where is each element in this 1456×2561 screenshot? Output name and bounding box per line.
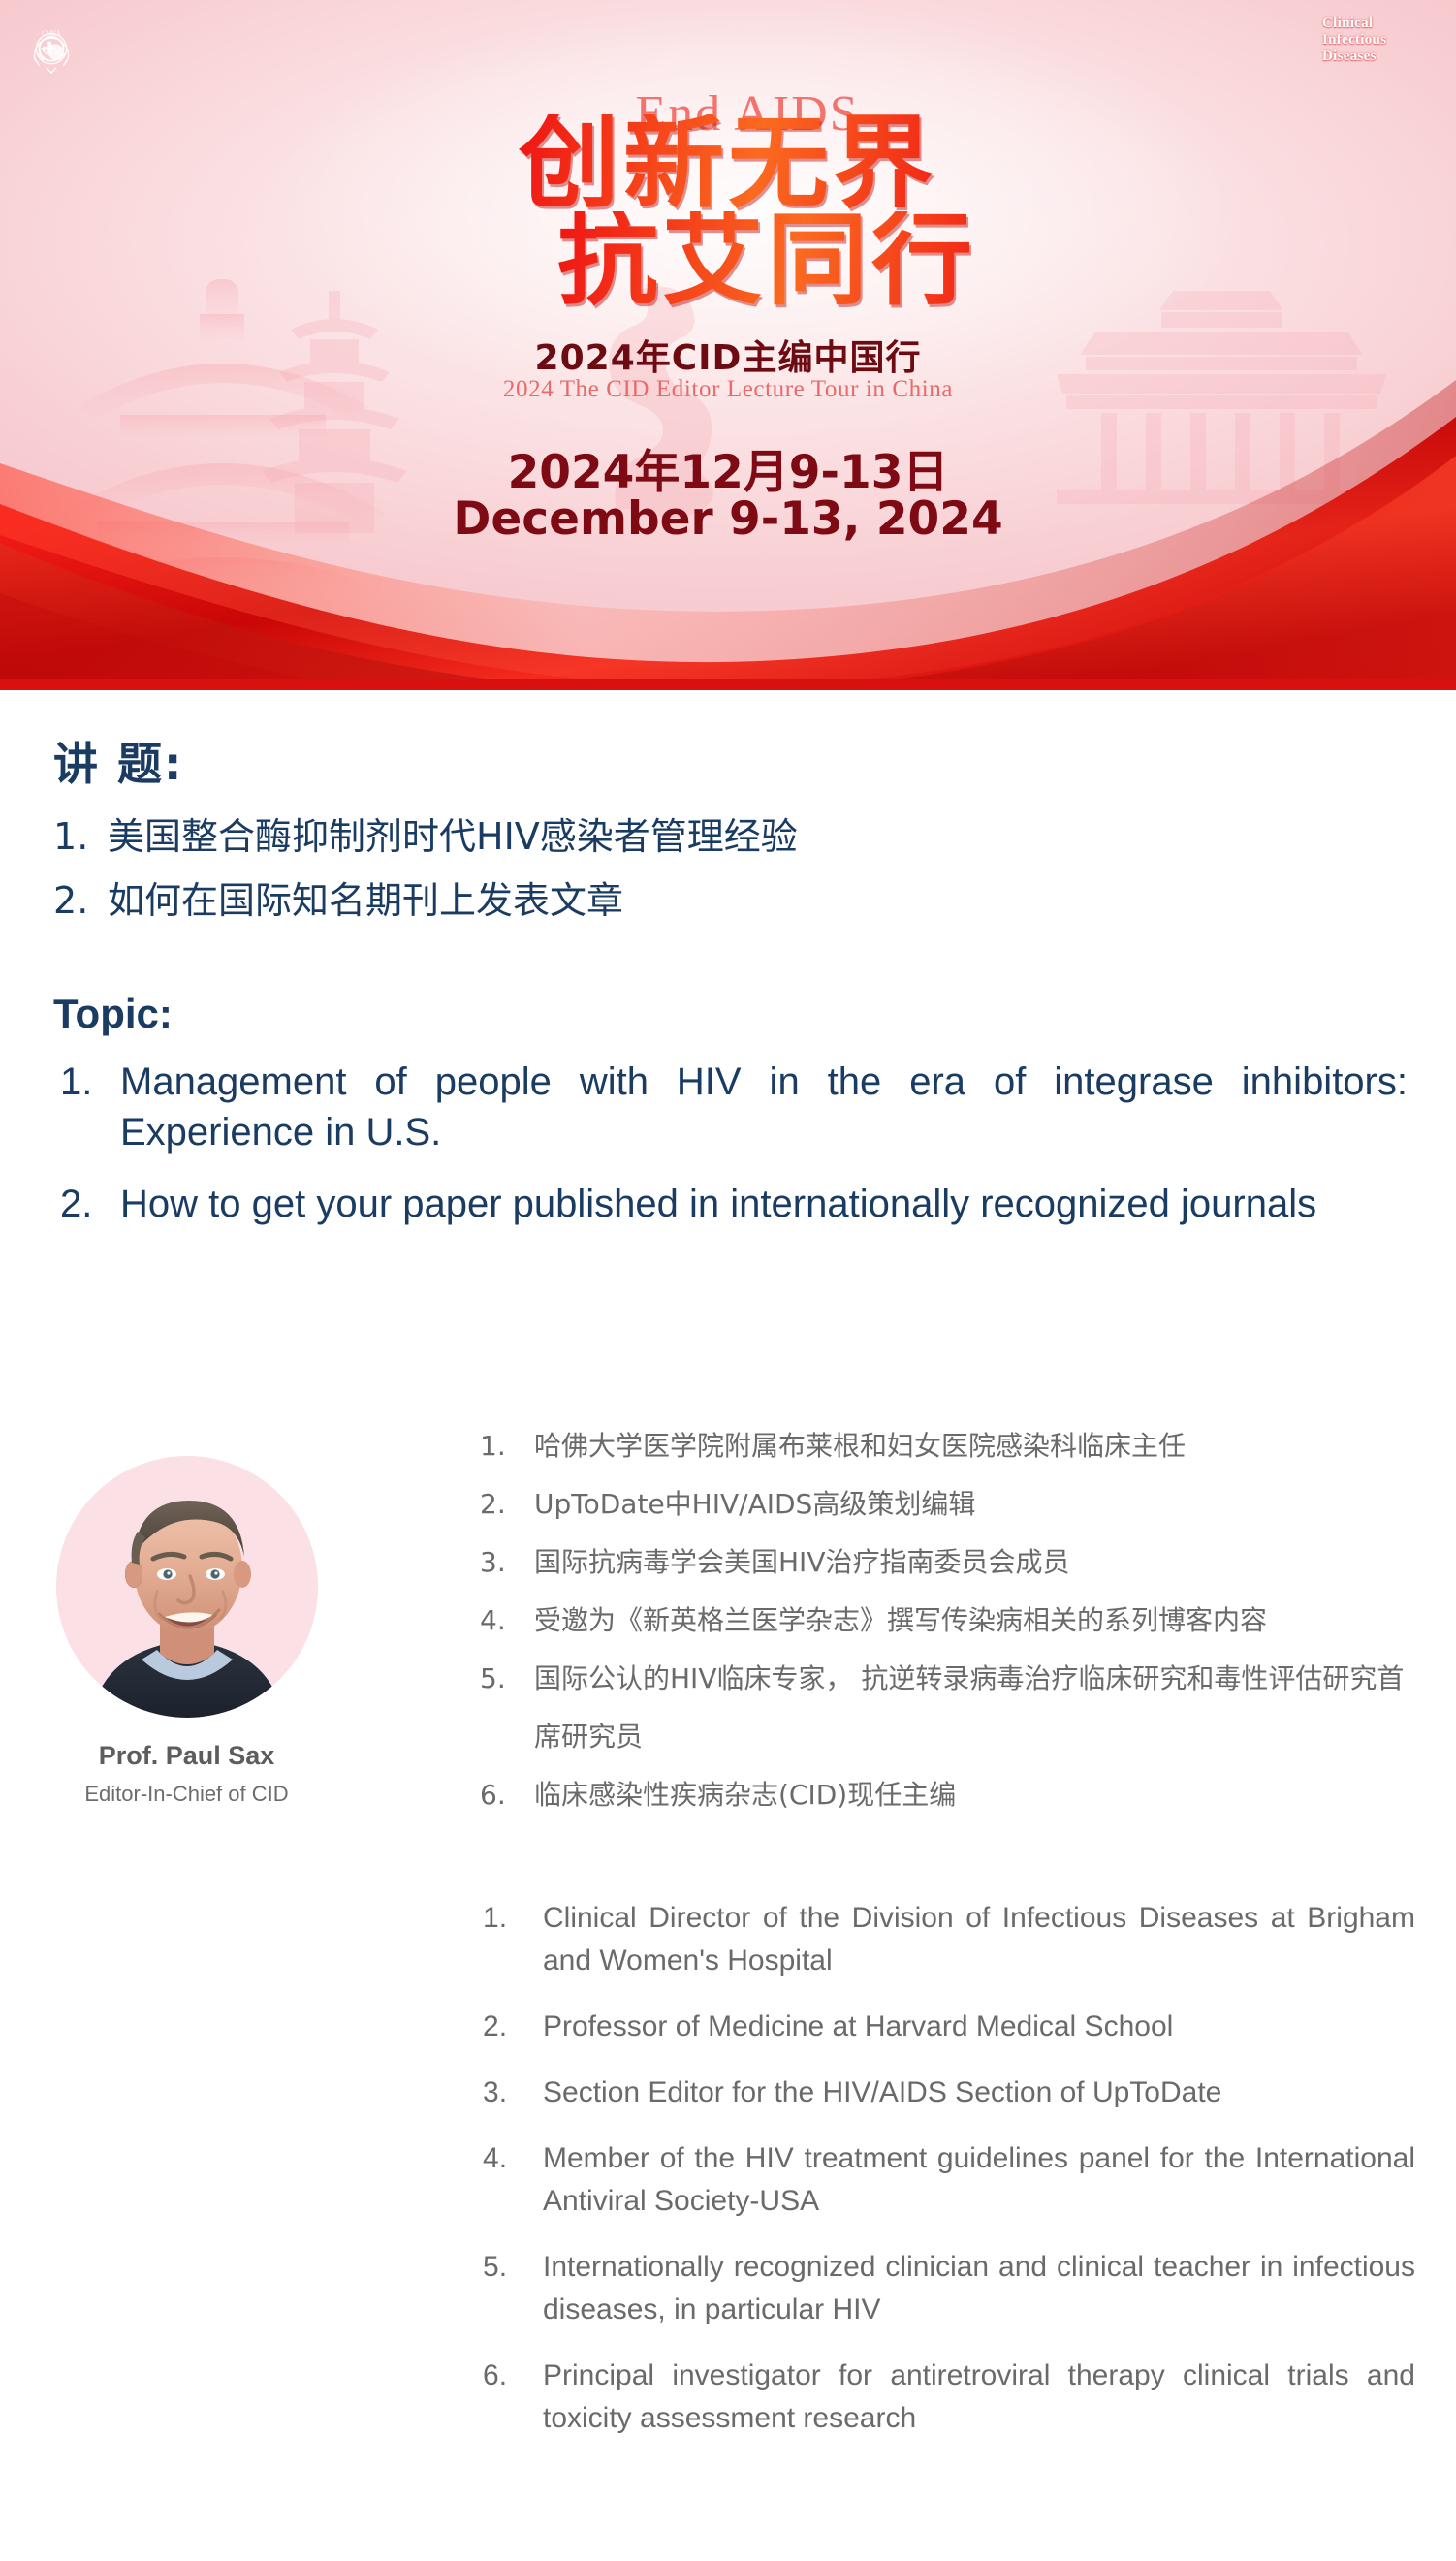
title-line-2: 抗艾同行 — [39, 211, 1456, 308]
event-date-cn: 2024年12月9-13日 — [0, 434, 1456, 501]
cid-mark-line-1: Clinical — [1322, 16, 1439, 32]
bio-cn-list: 哈佛大学医学院附属布莱根和妇女医院感染科临床主任 UpToDate中HIV/AI… — [480, 1417, 1410, 1824]
poster-header: CMEA Clinical Infectious Diseases End AI… — [0, 0, 1456, 690]
speaker-photo — [56, 1456, 318, 1718]
bio-cn-item: 受邀为《新英格兰医学杂志》撰写传染病相关的系列博客内容 — [480, 1592, 1410, 1650]
cid-journal-mark: Clinical Infectious Diseases — [1322, 16, 1439, 65]
speaker-role: Editor-In-Chief of CID — [0, 1782, 373, 1807]
cid-mark-line-3: Diseases — [1322, 48, 1439, 65]
bio-en-item: Clinical Director of the Division of Inf… — [483, 1897, 1415, 1982]
bio-cn-item: 国际抗病毒学会美国HIV治疗指南委员会成员 — [480, 1533, 1410, 1592]
bio-en-item: Section Editor for the HIV/AIDS Section … — [483, 2071, 1415, 2114]
poster-body: 讲 题: 美国整合酶抑制剂时代HIV感染者管理经验 如何在国际知名期刊上发表文章… — [0, 690, 1456, 2561]
main-title-cn: 创新无界 抗艾同行 — [0, 114, 1456, 308]
subtitle-en: 2024 The CID Editor Lecture Tour in Chin… — [0, 376, 1456, 403]
topic-cn-item: 如何在国际知名期刊上发表文章 — [53, 869, 1120, 933]
bio-en-item: Internationally recognized clinician and… — [483, 2246, 1415, 2331]
bio-en-item: Principal investigator for antiretrovira… — [483, 2355, 1415, 2440]
bio-en-list: Clinical Director of the Division of Inf… — [483, 1897, 1415, 2463]
bio-en-item: Member of the HIV treatment guidelines p… — [483, 2137, 1415, 2223]
topic-en-item: Management of people with HIV in the era… — [60, 1057, 1408, 1157]
subtitle-cn: 2024年CID主编中国行 — [0, 330, 1456, 380]
topics-en-heading: Topic: — [53, 991, 173, 1037]
topics-en-list: Management of people with HIV in the era… — [60, 1057, 1408, 1250]
bio-cn-item: 哈佛大学医学院附属布莱根和妇女医院感染科临床主任 — [480, 1417, 1410, 1475]
bio-cn-item: UpToDate中HIV/AIDS高级策划编辑 — [480, 1475, 1410, 1533]
topics-cn-list: 美国整合酶抑制剂时代HIV感染者管理经验 如何在国际知名期刊上发表文章 — [53, 805, 1120, 933]
bio-cn-item: 国际公认的HIV临床专家， 抗逆转录病毒治疗临床研究和毒性评估研究首席研究员 — [480, 1650, 1410, 1766]
avatar — [56, 1456, 318, 1718]
title-line-1: 创新无界 — [0, 114, 1456, 211]
topic-cn-item: 美国整合酶抑制剂时代HIV感染者管理经验 — [53, 805, 1120, 869]
topic-en-item: How to get your paper published in inter… — [60, 1179, 1408, 1229]
bio-en-item: Professor of Medicine at Harvard Medical… — [483, 2006, 1415, 2048]
bio-cn-item: 临床感染性疾病杂志(CID)现任主编 — [480, 1766, 1410, 1824]
svg-text:CMEA: CMEA — [42, 31, 61, 38]
cid-mark-line-2: Infectious — [1322, 32, 1439, 48]
cmea-logo-icon: CMEA — [21, 17, 81, 78]
speaker-name: Prof. Paul Sax — [0, 1741, 373, 1771]
event-date-en: December 9-13, 2024 — [0, 492, 1456, 546]
topics-cn-heading: 讲 题: — [53, 729, 183, 793]
